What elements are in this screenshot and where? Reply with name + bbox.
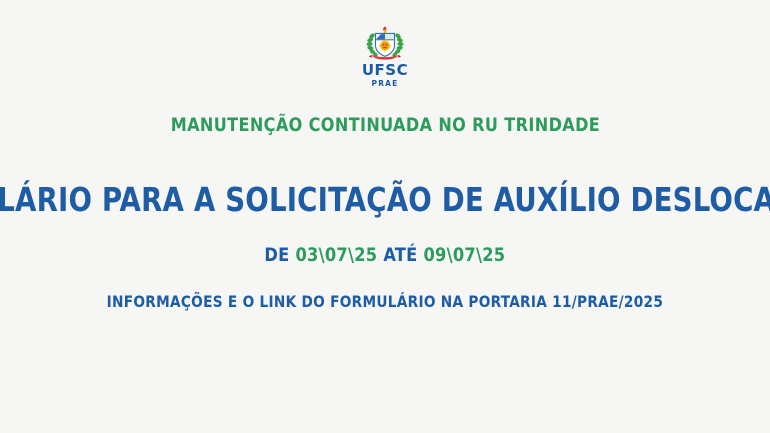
date-range: DE 03\07\25 ATÉ 09\07\25 [264, 244, 505, 266]
date-to-value: 09\07\25 [424, 244, 506, 266]
kicker-text: MANUTENÇÃO CONTINUADA NO RU TRINDADE [170, 114, 599, 136]
footnote-text: INFORMAÇÕES E O LINK DO FORMULÁRIO NA PO… [107, 292, 663, 311]
logo-wordmark: UFSC [362, 63, 408, 79]
date-from-value: 03\07\25 [296, 244, 378, 266]
ufsc-prae-logo: UFSC PRAE [349, 26, 421, 88]
date-from-label: DE [264, 244, 289, 266]
page-title: FORMULÁRIO PARA A SOLICITAÇÃO DE AUXÍLIO… [0, 180, 770, 219]
date-to-label: ATÉ [383, 244, 417, 266]
announcement-poster: UFSC PRAE MANUTENÇÃO CONTINUADA NO RU TR… [0, 0, 770, 433]
logo-submark: PRAE [372, 80, 399, 88]
ufsc-coat-of-arms-icon [363, 26, 407, 62]
